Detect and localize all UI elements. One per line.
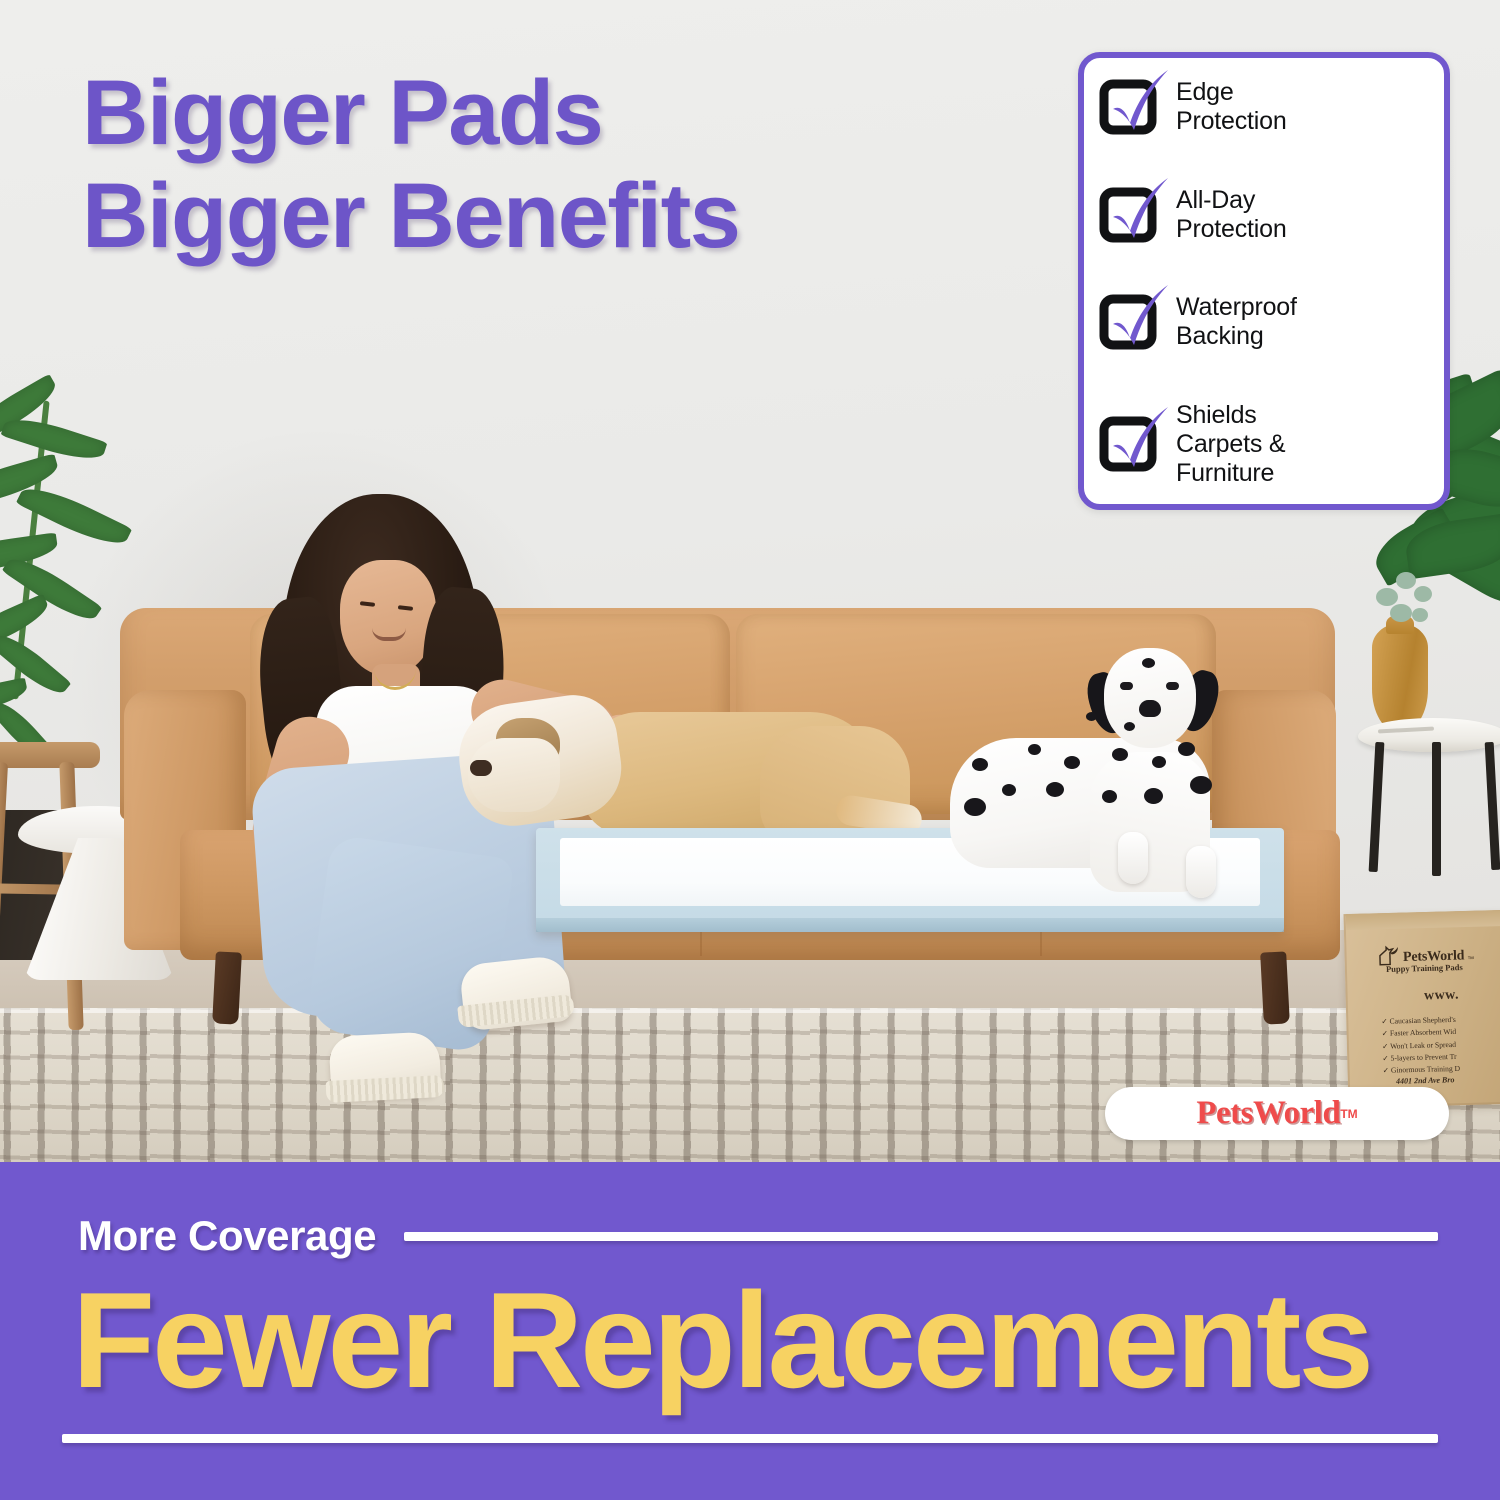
dalmatian-spot [964, 798, 986, 816]
banner-divider-top [404, 1232, 1438, 1241]
petsworld-logo: PetsWorldTM [1105, 1087, 1449, 1140]
woman-face [340, 560, 436, 676]
checkbox-checked-icon [1102, 418, 1158, 470]
dalmatian-eye [1166, 682, 1179, 690]
checklist-item-all-day-protection: All-Day Protection [1102, 186, 1428, 244]
dalmatian-spot [1086, 712, 1097, 721]
box-feature-list: ✓ Caucasian Shepherd's✓ Faster Absorbent… [1381, 1012, 1500, 1077]
checkbox-checked-icon [1102, 189, 1158, 241]
headline-line-2: Bigger Benefits [82, 165, 739, 268]
wooden-stool-top [0, 742, 100, 768]
dalmatian-spot [1046, 782, 1064, 797]
banner-divider-bottom [62, 1434, 1438, 1443]
checklist-label-line: Backing [1176, 322, 1264, 350]
eucalyptus-sprig [1414, 586, 1432, 602]
eucalyptus-sprig [1412, 608, 1428, 622]
dalmatian-spot [1142, 658, 1155, 668]
checklist-label-line: Protection [1176, 107, 1287, 135]
headline: Bigger Pads Bigger Benefits [82, 62, 739, 268]
dalmatian-nose [1139, 700, 1161, 717]
dalmatian-spot [1152, 756, 1166, 768]
box-trademark: ™ [1467, 956, 1474, 963]
eucalyptus-sprig [1390, 604, 1412, 622]
checklist-label-line: Waterproof [1176, 293, 1297, 321]
box-address: 4401 2nd Ave Bro [1396, 1075, 1455, 1086]
logo-trademark: TM [1340, 1107, 1357, 1121]
checklist-label: Waterproof Backing [1176, 293, 1297, 351]
bottom-banner: More Coverage Fewer Replacements [0, 1162, 1500, 1500]
dalmatian-spot [1064, 756, 1080, 769]
checklist-item-waterproof-backing: Waterproof Backing [1102, 293, 1428, 351]
banner-top-row: More Coverage [78, 1212, 1438, 1260]
eucalyptus-sprig [1396, 572, 1416, 589]
checklist-label: Shields Carpets & Furniture [1176, 401, 1285, 488]
checklist-label-line: Carpets & [1176, 430, 1285, 458]
sofa-leg [1260, 951, 1290, 1024]
dalmatian-spot [1190, 776, 1212, 794]
dalmatian-paw [1186, 846, 1216, 898]
checklist-label-line: Protection [1176, 215, 1287, 243]
checklist-label: Edge Protection [1176, 78, 1287, 136]
dalmatian-spot [1112, 748, 1128, 761]
logo-wordmark: PetsWorld [1196, 1095, 1340, 1132]
dalmatian-spot [1028, 744, 1041, 755]
dog-logo-icon [1378, 945, 1401, 966]
checklist-label-line: All-Day [1176, 186, 1255, 214]
box-website: www. [1424, 988, 1459, 1005]
dalmatian-spot [1124, 722, 1135, 731]
dalmatian-spot [1144, 788, 1163, 804]
dalmatian-spot [1002, 784, 1016, 796]
dalmatian-spot [972, 758, 988, 771]
dalmatian-paw [1118, 832, 1148, 884]
checklist-label-line: Shields [1176, 401, 1257, 429]
bulldog-nose [470, 760, 492, 776]
headline-line-1: Bigger Pads [82, 62, 739, 165]
box-subtitle: Puppy Training Pads [1386, 962, 1463, 974]
dalmatian-eye [1120, 682, 1133, 690]
checklist-item-shields-carpets-furniture: Shields Carpets & Furniture [1102, 401, 1428, 488]
banner-subheading: More Coverage [78, 1212, 376, 1260]
checkbox-checked-icon [1102, 296, 1158, 348]
ad-canvas: PetsWorld ™ Puppy Training Pads www. ✓ C… [0, 0, 1500, 1500]
training-pad-edge [536, 918, 1284, 932]
dalmatian-spot [1178, 742, 1195, 756]
checklist-label-line: Furniture [1176, 459, 1274, 487]
checklist-label-line: Edge [1176, 78, 1234, 106]
eucalyptus-sprig [1376, 588, 1398, 606]
side-table-leg [1432, 742, 1441, 876]
sofa-leg [212, 951, 242, 1024]
wooden-vase [1372, 624, 1428, 732]
checkbox-checked-icon [1102, 81, 1158, 133]
checklist-item-edge-protection: Edge Protection [1102, 78, 1428, 136]
dalmatian-spot [1102, 790, 1117, 803]
banner-heading: Fewer Replacements [72, 1272, 1371, 1408]
checklist-label: All-Day Protection [1176, 186, 1287, 244]
benefits-checklist-card: Edge Protection All-Day Protection [1078, 52, 1450, 510]
